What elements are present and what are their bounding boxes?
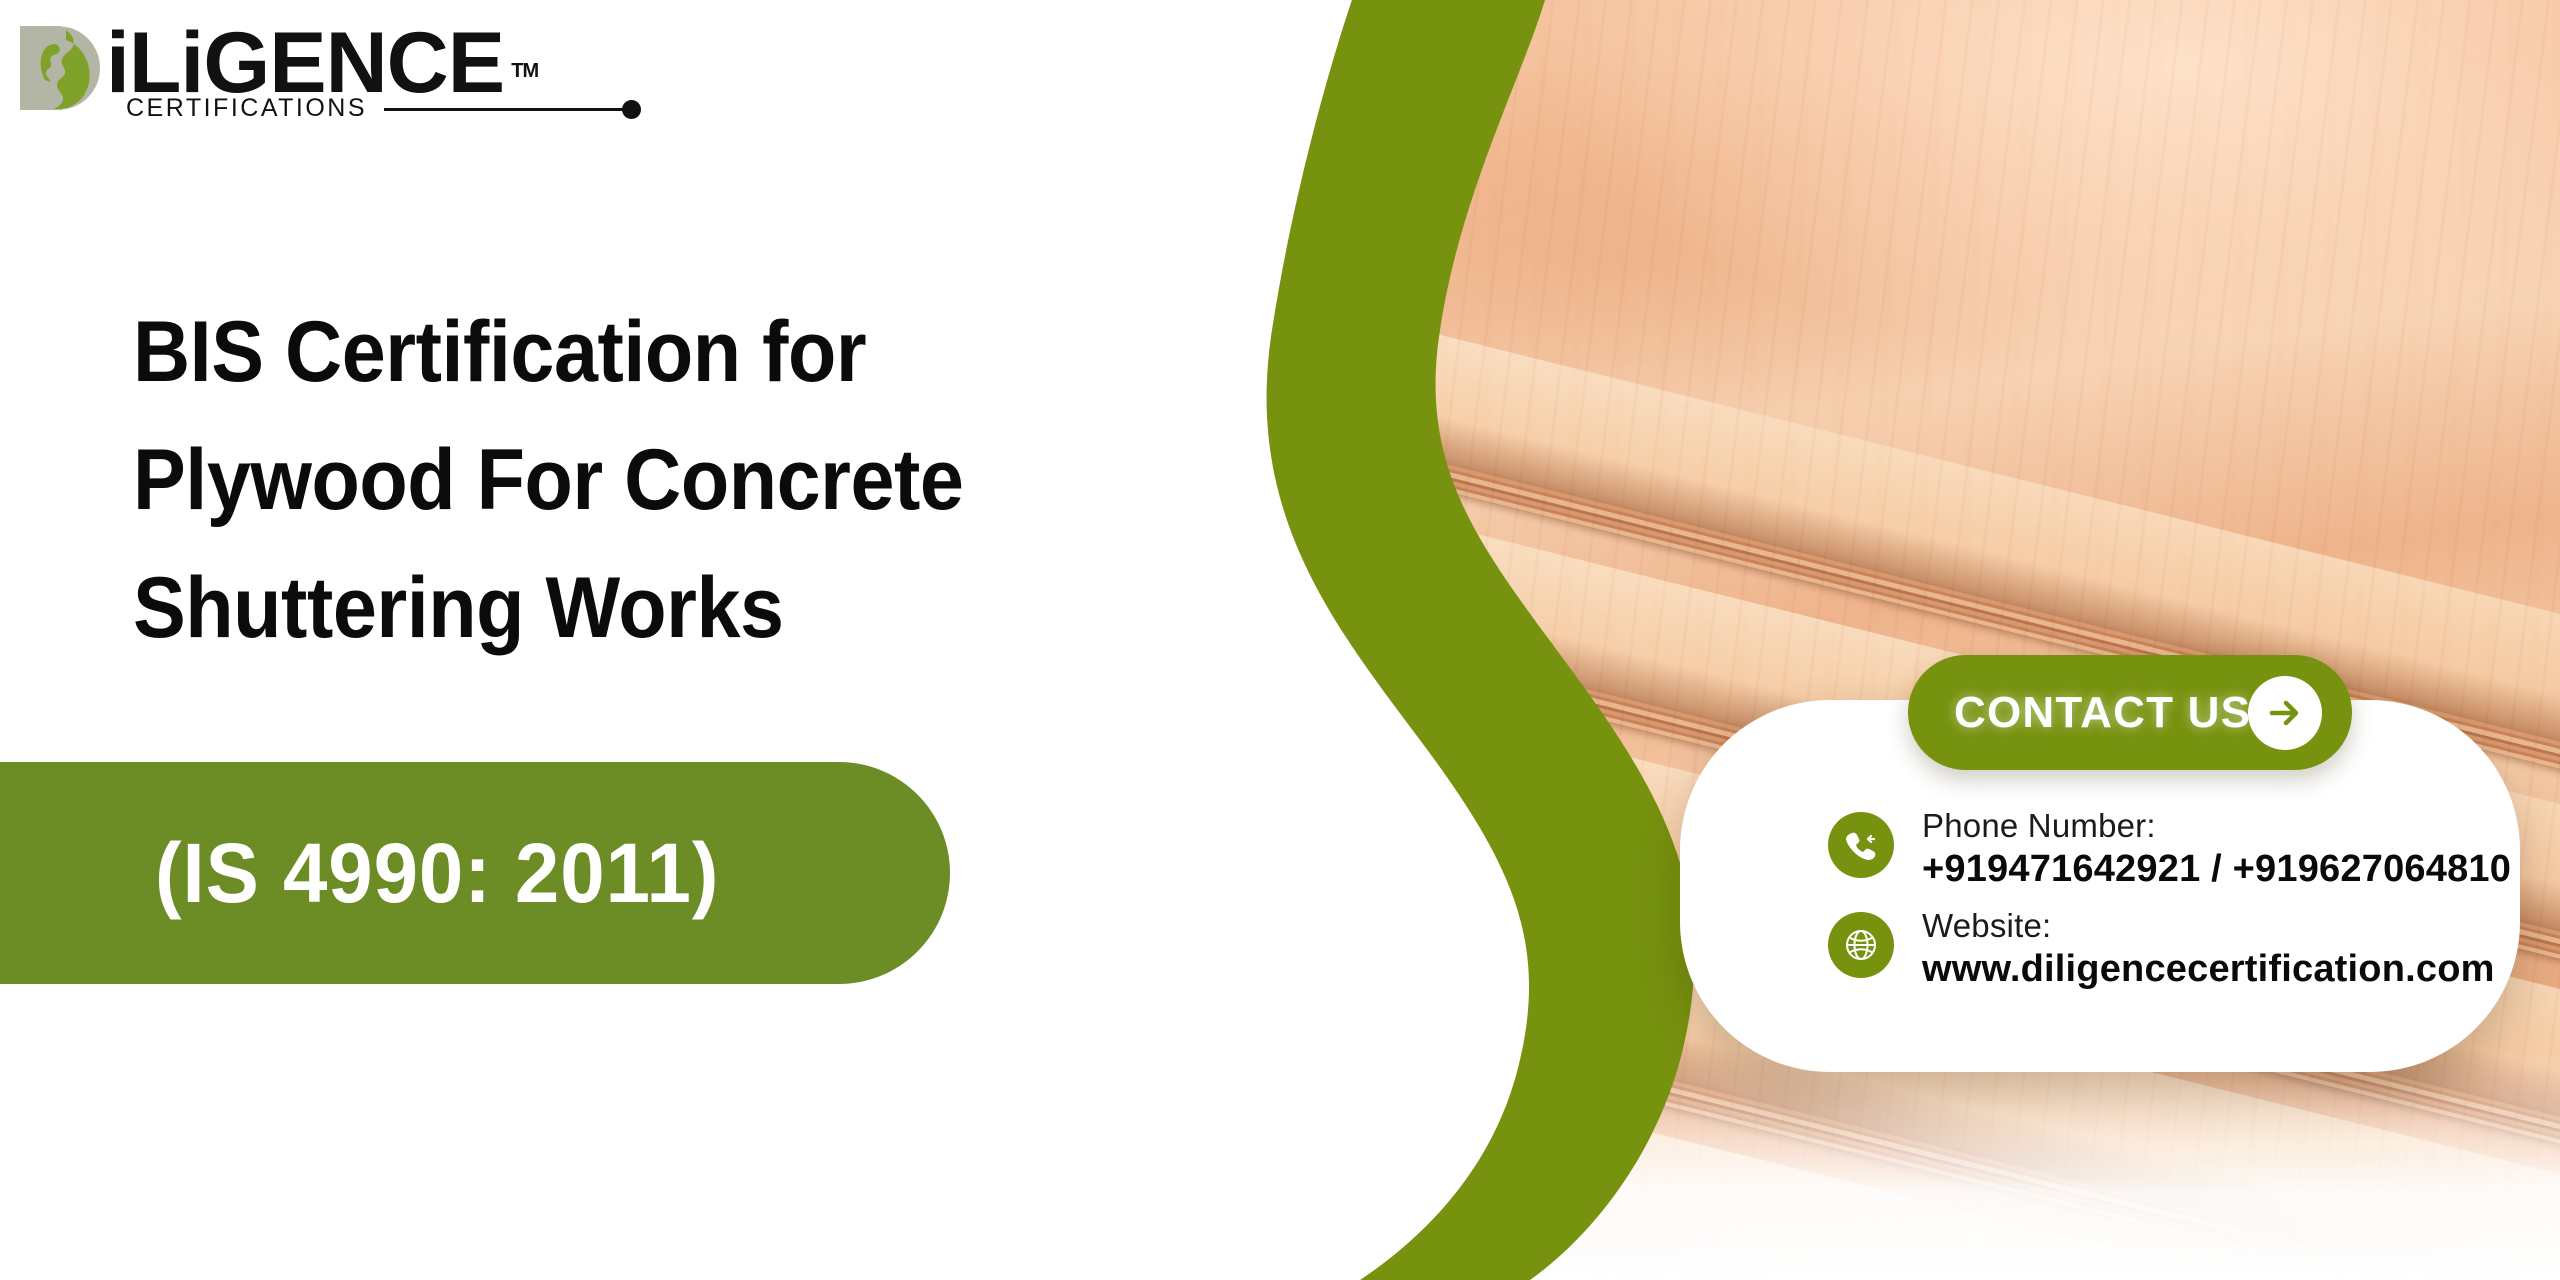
contact-website-label: Website: <box>1922 906 2495 946</box>
globe-icon <box>1828 912 1894 978</box>
trademark-symbol: TM <box>511 28 538 114</box>
headline-line-3: Shuttering Works <box>133 544 1219 672</box>
logo-dot <box>622 100 641 119</box>
contact-phone-label: Phone Number: <box>1922 806 2511 846</box>
globe-d-icon <box>14 20 110 116</box>
promo-banner: iLiGENCETM CERTIFICATIONS BIS Certificat… <box>0 0 2560 1280</box>
contact-details-list: Phone Number: +919471642921 / +919627064… <box>1828 806 2508 1006</box>
page-title: BIS Certification for Plywood For Concre… <box>133 288 1219 672</box>
standard-code-label: (IS 4990: 2011) <box>155 825 719 922</box>
photo-bottom-fade <box>1300 1050 2560 1280</box>
headline-line-2: Plywood For Concrete <box>133 416 1219 544</box>
brand-logo[interactable]: iLiGENCETM CERTIFICATIONS <box>14 16 444 116</box>
logo-subtitle: CERTIFICATIONS <box>126 94 367 123</box>
logo-rule <box>384 108 624 111</box>
contact-row-phone[interactable]: Phone Number: +919471642921 / +919627064… <box>1828 806 2508 892</box>
contact-us-button[interactable]: CONTACT US <box>1908 655 2352 770</box>
contact-website-text: Website: www.diligencecertification.com <box>1922 906 2495 992</box>
contact-phone-text: Phone Number: +919471642921 / +919627064… <box>1922 806 2511 892</box>
contact-row-website[interactable]: Website: www.diligencecertification.com <box>1828 906 2508 992</box>
headline-line-1: BIS Certification for <box>133 288 1219 416</box>
phone-icon <box>1828 812 1894 878</box>
standard-code-badge: (IS 4990: 2011) <box>0 762 950 984</box>
contact-phone-value: +919471642921 / +919627064810 <box>1922 846 2511 892</box>
contact-website-value[interactable]: www.diligencecertification.com <box>1922 946 2495 992</box>
arrow-right-icon <box>2248 676 2322 750</box>
contact-us-label: CONTACT US <box>1954 688 2251 738</box>
